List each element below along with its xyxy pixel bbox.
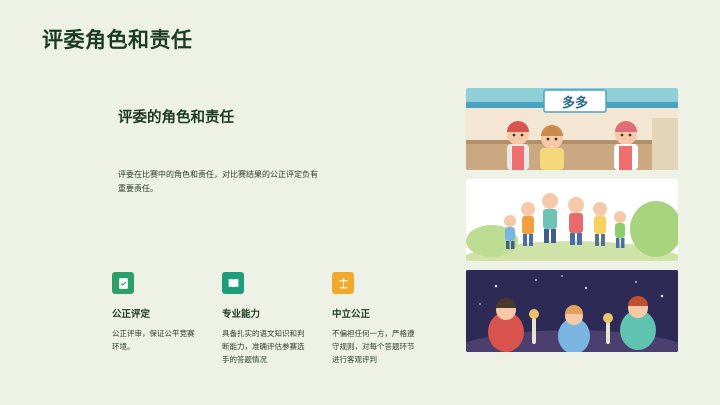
illustration-column: 多多 [466,88,678,361]
feature-item-3: 中立公正 不偏袒任何一方，严格遵守规则，对每个答题环节进行客观评判 [332,272,442,366]
feature-desc: 具备扎实的语文知识和判断能力，准确评估参赛选手的答题情况 [222,327,308,366]
svg-text:多多: 多多 [562,95,588,110]
content-heading: 评委的角色和责任 [118,106,234,127]
feature-desc: 公正评审，保证公平竞赛环境。 [112,327,198,353]
scale-balance-icon [332,272,354,294]
feature-desc: 不偏袒任何一方，严格遵守规则，对每个答题环节进行客观评判 [332,327,418,366]
feature-title: 公正评定 [112,306,218,320]
feature-item-2: 专业能力 具备扎实的语文知识和判断能力，准确评估参赛选手的答题情况 [222,272,332,366]
page-title: 评委角色和责任 [42,24,193,54]
feature-list: 公正评定 公正评审，保证公平竞赛环境。 专业能力 具备扎实的语文知识和判断能力，… [112,272,442,366]
feature-item-1: 公正评定 公正评审，保证公平竞赛环境。 [112,272,222,366]
illustration-classroom-kids: 多多 [466,88,678,170]
illustration-night-campfire [466,270,678,352]
book-icon [222,272,244,294]
slide: 评委角色和责任 评委的角色和责任 评委在比赛中的角色和责任，对比赛结果的公正评定… [0,0,720,405]
content-body: 评委在比赛中的角色和责任，对比赛结果的公正评定负有重要责任。 [118,168,318,196]
document-check-icon [112,272,134,294]
feature-title: 专业能力 [222,306,328,320]
feature-title: 中立公正 [332,306,438,320]
illustration-children-playing [466,179,678,261]
